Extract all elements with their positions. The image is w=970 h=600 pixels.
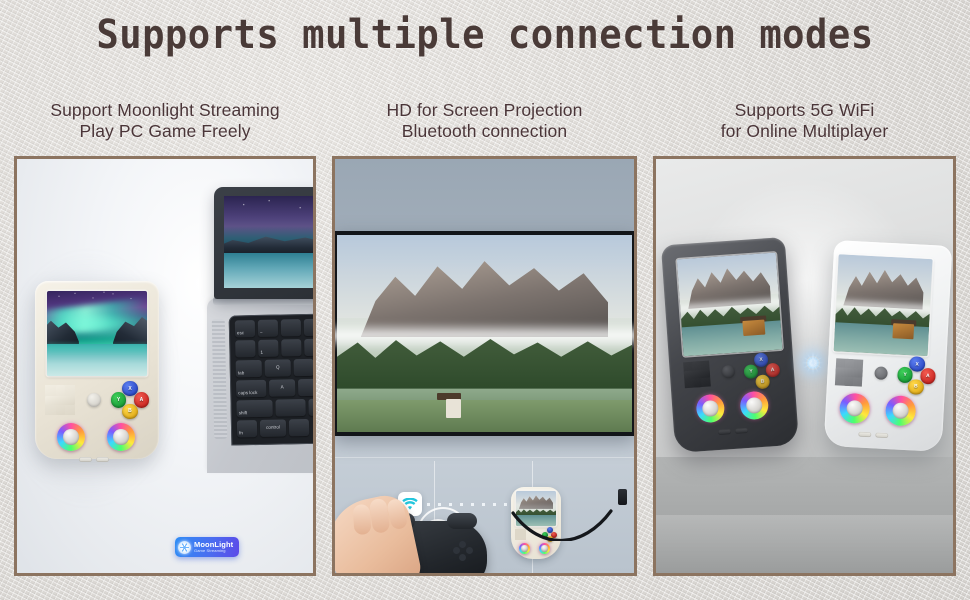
- key-option: [289, 419, 309, 436]
- tv-meadow: [337, 400, 632, 432]
- key-z: [275, 399, 305, 417]
- button-b[interactable]: B: [122, 404, 137, 419]
- laptop-screen-water: [224, 253, 313, 288]
- key-1-alt: ~: [258, 320, 278, 337]
- screen-art-lago-braies-dark: [677, 252, 783, 356]
- laptop-screen-mountains: [224, 233, 313, 254]
- panel-image-frame-wifi5g: X Y A B: [653, 156, 956, 576]
- key-1: 1: [258, 340, 278, 357]
- aurora-lake-reflection: [47, 344, 147, 358]
- key-2: [281, 319, 301, 336]
- key-capslock: caps lock: [236, 380, 266, 398]
- panel-caption-moonlight: Support Moonlight Streaming Play PC Game…: [14, 100, 316, 148]
- tv-screen-art: [337, 235, 632, 432]
- screen-art-aurora: [47, 291, 147, 376]
- select-button-white[interactable]: [858, 432, 871, 438]
- key-control: control: [260, 419, 286, 437]
- select-button[interactable]: [79, 457, 92, 462]
- key-6: [304, 339, 313, 356]
- button-a[interactable]: A: [134, 392, 149, 407]
- moonlight-icon: [178, 541, 191, 554]
- finger-1: [352, 504, 371, 535]
- button-b-white[interactable]: B: [908, 379, 924, 395]
- handheld-console-cream: X Y A B: [35, 281, 159, 459]
- handheld-console-transparent-black: X Y A B: [661, 237, 799, 453]
- hdmi-plug: [618, 489, 627, 505]
- console-screen: [47, 291, 147, 376]
- start-button-white[interactable]: [875, 432, 888, 438]
- panel-row: Support Moonlight Streaming Play PC Game…: [0, 100, 970, 590]
- floor-reflection: [656, 515, 953, 573]
- laptop-screen-stars: [224, 196, 313, 235]
- television: [335, 231, 634, 436]
- panel-wifi5g: Supports 5G WiFi for Online Multiplayer: [653, 100, 956, 576]
- screen-art-lago-braies-white: [833, 255, 932, 357]
- panel-image-frame-moonlight: esc ~ 1 tab Q: [14, 156, 316, 576]
- panel-projection: HD for Screen Projection Bluetooth conne…: [332, 100, 637, 576]
- panel-caption-wifi5g: Supports 5G WiFi for Online Multiplayer: [653, 100, 956, 148]
- key-a: A: [269, 379, 295, 397]
- key-3: [304, 319, 313, 336]
- key-tab: tab: [236, 360, 262, 378]
- laptop-keyboard: esc ~ 1 tab Q: [229, 312, 313, 445]
- abxy-buttons-dark[interactable]: X Y A B: [743, 352, 781, 390]
- abxy-buttons[interactable]: X Y A B: [111, 381, 149, 419]
- key-tilde: [235, 340, 255, 357]
- laptop-speaker-grill: [212, 319, 228, 439]
- hdmi-cable: [511, 493, 623, 541]
- panel-caption-projection: HD for Screen Projection Bluetooth conne…: [332, 100, 637, 148]
- console-screen-white: [833, 255, 932, 357]
- key-shift: shift: [236, 400, 272, 418]
- gamepad-buttons[interactable]: [453, 541, 473, 561]
- home-button[interactable]: [87, 393, 101, 407]
- wall-seam: [335, 457, 634, 458]
- analog-stick-right-small[interactable]: [539, 543, 550, 554]
- dpad[interactable]: [45, 385, 75, 415]
- page-title: Supports multiple connection modes: [34, 12, 936, 58]
- dpad-dark[interactable]: [683, 361, 711, 389]
- key-5: [281, 339, 301, 356]
- key-q: Q: [265, 359, 291, 377]
- laptop-lid: [214, 187, 313, 299]
- panel-image-frame-projection: [332, 156, 637, 576]
- analog-stick-left-small[interactable]: [519, 543, 530, 554]
- key-s: [298, 379, 313, 396]
- button-b-dark[interactable]: B: [755, 374, 770, 389]
- key-x: [308, 399, 313, 416]
- moonlight-badge-title: MoonLight: [194, 541, 233, 549]
- laptop-screen: [224, 196, 313, 288]
- tv-church: [446, 399, 461, 419]
- key-fn: fn: [237, 420, 257, 437]
- key-w: [294, 359, 313, 376]
- analog-stick-right[interactable]: [107, 423, 135, 451]
- analog-stick-left[interactable]: [57, 423, 85, 451]
- key-esc: esc: [235, 320, 255, 337]
- abxy-buttons-white[interactable]: X Y A B: [897, 356, 937, 396]
- console-screen-dark: [677, 252, 783, 356]
- select-start-buttons[interactable]: [79, 457, 109, 462]
- start-button[interactable]: [96, 457, 109, 462]
- dpad-white[interactable]: [835, 358, 863, 386]
- moonlight-badge-subtitle: Game Streaming: [194, 549, 233, 553]
- button-a-dark[interactable]: A: [765, 362, 780, 377]
- panel-moonlight: Support Moonlight Streaming Play PC Game…: [14, 100, 316, 576]
- handheld-console-white: X Y A B: [824, 240, 953, 452]
- moonlight-badge: MoonLight Game Streaming: [175, 537, 239, 557]
